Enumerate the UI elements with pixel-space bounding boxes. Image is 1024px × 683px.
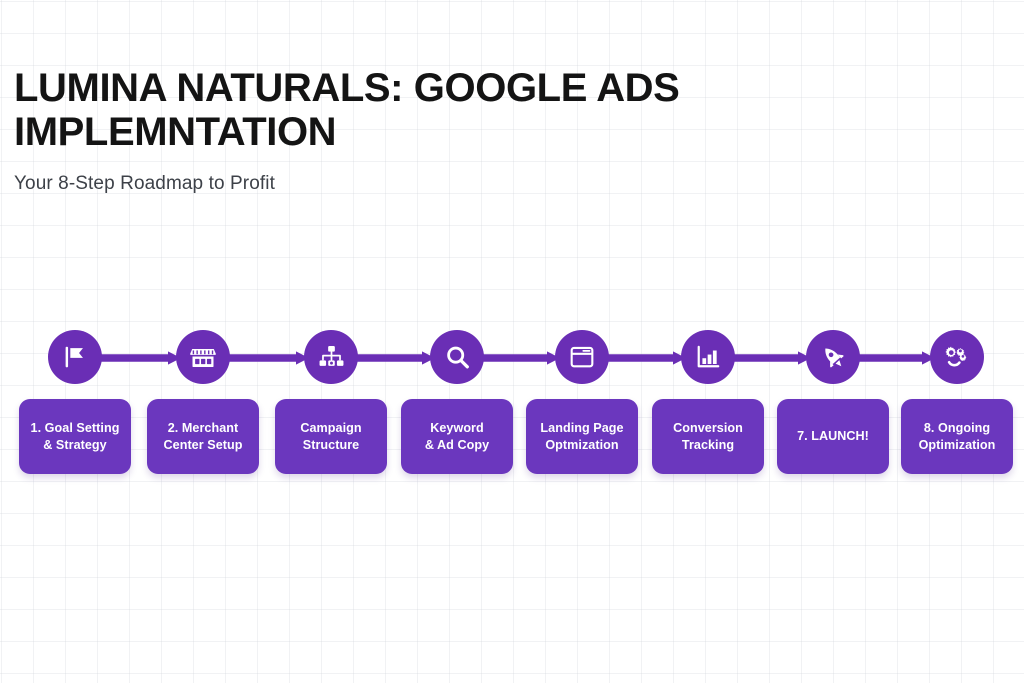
- step-label-box-8[interactable]: 8. Ongoing Optimization: [901, 399, 1013, 474]
- step-label-text-6: Conversion Tracking: [673, 420, 743, 454]
- bar-chart-icon: [694, 343, 722, 371]
- storefront-icon: [188, 342, 218, 372]
- step-label-text-7: 7. LAUNCH!: [797, 428, 869, 445]
- step-icon-circle-8[interactable]: [930, 330, 984, 384]
- page-title: LUMINA NATURALS: GOOGLE ADS IMPLEMNTATIO…: [14, 66, 714, 154]
- step-label-text-5: Landing Page Optmization: [540, 420, 623, 454]
- step-label-box-6[interactable]: Conversion Tracking: [652, 399, 764, 474]
- arrow-connector-2-to-3: [225, 351, 309, 365]
- step-label-text-4: Keyword & Ad Copy: [425, 420, 489, 454]
- step-label-text-2: 2. Merchant Center Setup: [164, 420, 243, 454]
- step-label-box-7[interactable]: 7. LAUNCH!: [777, 399, 889, 474]
- step-icon-circle-3[interactable]: [304, 330, 358, 384]
- gears-icon: [942, 342, 972, 372]
- step-icon-circle-7[interactable]: [806, 330, 860, 384]
- roadmap-flow: 1. Goal Setting & Strategy 2. Merchant C…: [0, 330, 1024, 490]
- page-subtitle: Your 8-Step Roadmap to Profit: [14, 172, 774, 196]
- arrow-connector-1-to-2: [97, 351, 181, 365]
- arrow-connector-7-to-8: [855, 351, 935, 365]
- step-label-text-1: 1. Goal Setting & Strategy: [31, 420, 120, 454]
- step-label-box-5[interactable]: Landing Page Optmization: [526, 399, 638, 474]
- step-icon-circle-4[interactable]: [430, 330, 484, 384]
- step-icon-circle-2[interactable]: [176, 330, 230, 384]
- arrow-connector-6-to-7: [730, 351, 811, 365]
- header: LUMINA NATURALS: GOOGLE ADS IMPLEMNTATIO…: [14, 66, 774, 196]
- arrow-connector-4-to-5: [479, 351, 560, 365]
- step-label-text-3: Campaign Structure: [300, 420, 361, 454]
- hierarchy-icon: [317, 343, 346, 372]
- step-label-box-4[interactable]: Keyword & Ad Copy: [401, 399, 513, 474]
- arrow-connector-3-to-4: [353, 351, 435, 365]
- step-label-box-3[interactable]: Campaign Structure: [275, 399, 387, 474]
- arrow-connector-5-to-6: [604, 351, 686, 365]
- step-icon-circle-1[interactable]: [48, 330, 102, 384]
- browser-window-icon: [568, 343, 596, 371]
- flag-icon: [60, 342, 90, 372]
- step-label-text-8: 8. Ongoing Optimization: [919, 420, 996, 454]
- step-label-box-1[interactable]: 1. Goal Setting & Strategy: [19, 399, 131, 474]
- step-label-box-2[interactable]: 2. Merchant Center Setup: [147, 399, 259, 474]
- step-icon-circle-6[interactable]: [681, 330, 735, 384]
- step-icon-circle-5[interactable]: [555, 330, 609, 384]
- rocket-icon: [819, 343, 848, 372]
- magnifier-icon: [443, 343, 472, 372]
